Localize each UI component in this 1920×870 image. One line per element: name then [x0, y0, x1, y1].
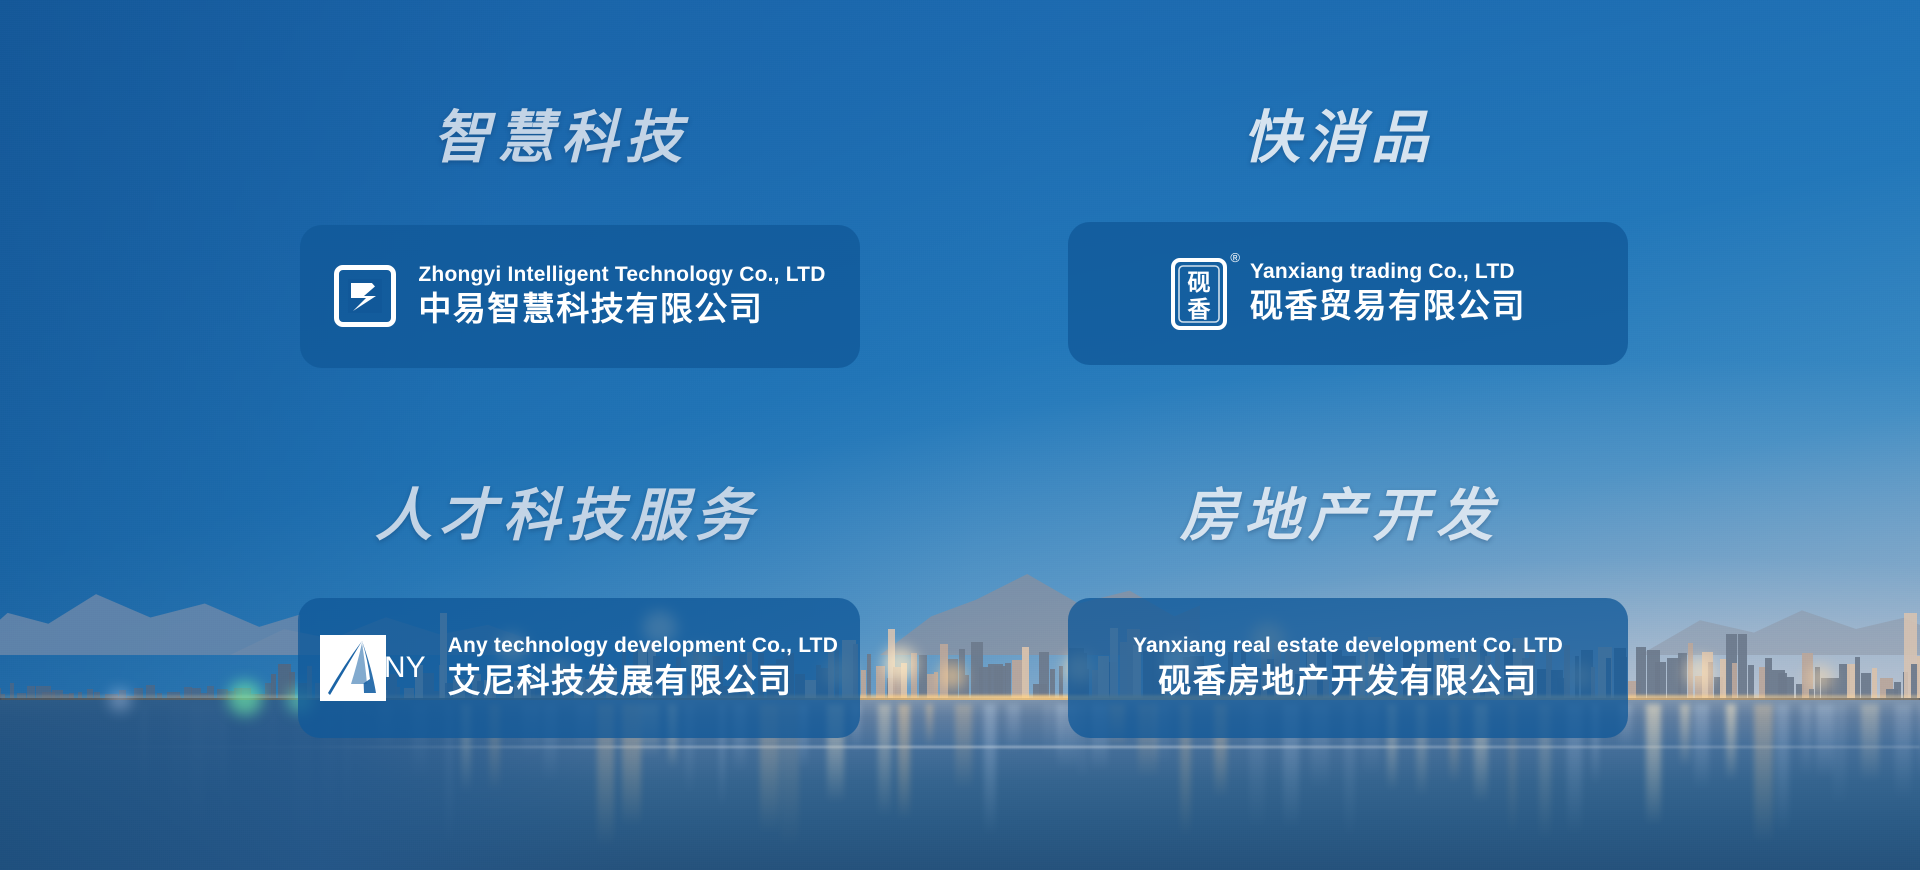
segment-heading-smart-technology: 智慧科技 [433, 110, 689, 167]
company-card-yanxiang-trading[interactable]: 砚 香 ® Yanxiang trading Co., LTD 砚香贸易有限公司 [1068, 222, 1628, 365]
segments-grid: 智慧科技 Zhongyi Intelligent Technology Co.,… [0, 0, 1920, 870]
segment-heading-real-estate: 房地产开发 [1180, 488, 1500, 545]
any-logo-text: NY [384, 653, 426, 683]
company-name-en: Zhongyi Intelligent Technology Co., LTD [418, 262, 825, 288]
svg-text:砚: 砚 [1188, 270, 1211, 296]
company-name-en: Yanxiang trading Co., LTD [1250, 259, 1526, 285]
zhongyi-z-stamp-logo [334, 265, 396, 327]
svg-text:香: 香 [1188, 297, 1212, 323]
company-name-cn: 砚香房地产开发有限公司 [1158, 660, 1538, 703]
any-mountain-logo: NY [320, 635, 426, 701]
segment-heading-talent-services: 人才科技服务 [375, 488, 759, 545]
company-name-cn: 砚香贸易有限公司 [1250, 285, 1526, 328]
company-name-cn: 艾尼科技发展有限公司 [448, 660, 838, 703]
company-name-en: Any technology development Co., LTD [448, 633, 838, 659]
company-card-zhongyi[interactable]: Zhongyi Intelligent Technology Co., LTD … [300, 225, 860, 368]
yanxiang-seal-logo: 砚 香 ® [1170, 257, 1228, 331]
company-name-en: Yanxiang real estate development Co. LTD [1133, 633, 1563, 659]
company-names-any-technology: Any technology development Co., LTD 艾尼科技… [448, 633, 838, 702]
registered-trademark-icon: ® [1230, 251, 1240, 264]
company-card-any-technology[interactable]: NY Any technology development Co., LTD 艾… [298, 598, 860, 738]
company-name-cn: 中易智慧科技有限公司 [418, 288, 825, 331]
company-names-yanxiang-trading: Yanxiang trading Co., LTD 砚香贸易有限公司 [1250, 259, 1526, 328]
company-names-zhongyi: Zhongyi Intelligent Technology Co., LTD … [418, 262, 825, 331]
company-card-yanxiang-real-estate[interactable]: Yanxiang real estate development Co. LTD… [1068, 598, 1628, 738]
segment-heading-fmcg: 快消品 [1243, 110, 1435, 167]
company-names-yanxiang-real-estate: Yanxiang real estate development Co. LTD… [1133, 633, 1563, 702]
